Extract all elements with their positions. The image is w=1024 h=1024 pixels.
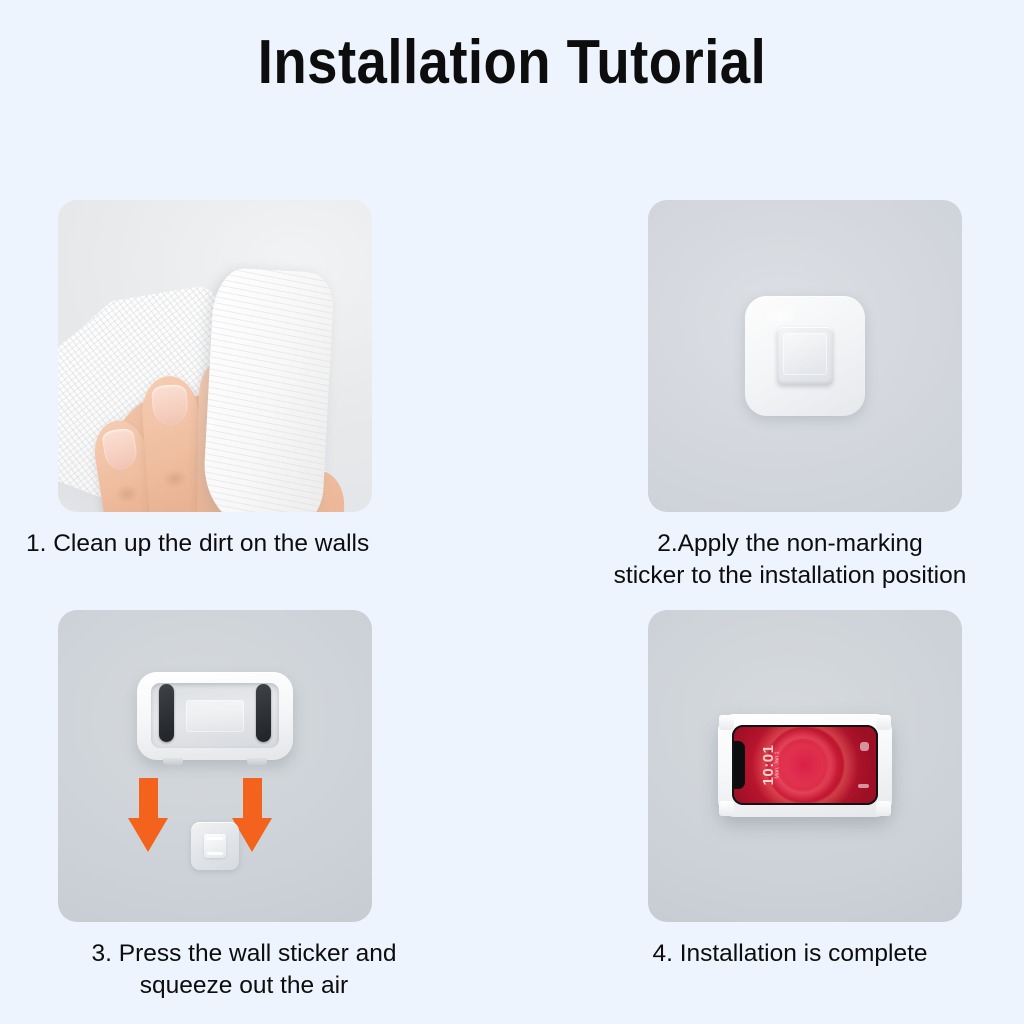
holder-corner-top-left [719, 715, 734, 730]
holder-corner-bottom-left [719, 801, 734, 816]
step-1-caption: 1. Clean up the dirt on the walls [24, 528, 466, 560]
tutorial-page: Installation Tutorial [0, 0, 1024, 1024]
step-3-caption: 3. Press the wall sticker and squeeze ou… [24, 938, 464, 1002]
holder-mount-slot [186, 700, 244, 732]
camera-icon [858, 784, 869, 788]
step-1: 1. Clean up the dirt on the walls [24, 200, 464, 560]
holder-tab-left [163, 758, 183, 765]
step-4: 10:01 Mon, Jan 1 4. Installation is comp… [560, 610, 1000, 970]
step-2-caption: 2.Apply the non-marking sticker to the i… [558, 528, 1022, 592]
grip-pad-left [159, 684, 174, 742]
sticker-boss [777, 327, 833, 385]
arrow-head [128, 818, 168, 852]
holder-tab-right [247, 758, 267, 765]
down-arrow-left [128, 778, 168, 852]
step-3: 3. Press the wall sticker and squeeze ou… [24, 610, 464, 1002]
wallpaper-ring-inner [777, 738, 831, 793]
phone-wallpaper: 10:01 Mon, Jan 1 [734, 727, 876, 803]
arrow-shaft [243, 778, 262, 822]
sticker-boss-small [204, 834, 226, 858]
flashlight-icon [860, 742, 869, 751]
step-4-caption: 4. Installation is complete [558, 938, 1022, 970]
wall-sticker [745, 296, 865, 416]
holder-corner-top-right [876, 715, 891, 730]
fingernail [101, 427, 139, 472]
phone-notch [734, 741, 745, 789]
fingernail [151, 384, 188, 426]
cloth-draped-fold [201, 267, 334, 512]
steps-grid: 1. Clean up the dirt on the walls 2.Appl… [0, 0, 1024, 1024]
knuckle [110, 479, 145, 510]
step-2-image [648, 200, 962, 512]
step-4-image: 10:01 Mon, Jan 1 [648, 610, 962, 922]
phone-holder-mounted: 10:01 Mon, Jan 1 [718, 714, 892, 817]
wall-sticker-small [191, 822, 239, 870]
arrow-shaft [139, 778, 158, 822]
phone-screen: 10:01 Mon, Jan 1 [732, 725, 878, 805]
lockscreen-date: Mon, Jan 1 [775, 751, 781, 778]
step-3-image [58, 610, 372, 922]
knuckle [157, 465, 192, 493]
grip-pad-right [256, 684, 271, 742]
phone-holder-back [137, 672, 293, 760]
holder-corner-bottom-right [876, 801, 891, 816]
step-2: 2.Apply the non-marking sticker to the i… [560, 200, 1000, 592]
step-1-image [58, 200, 372, 512]
